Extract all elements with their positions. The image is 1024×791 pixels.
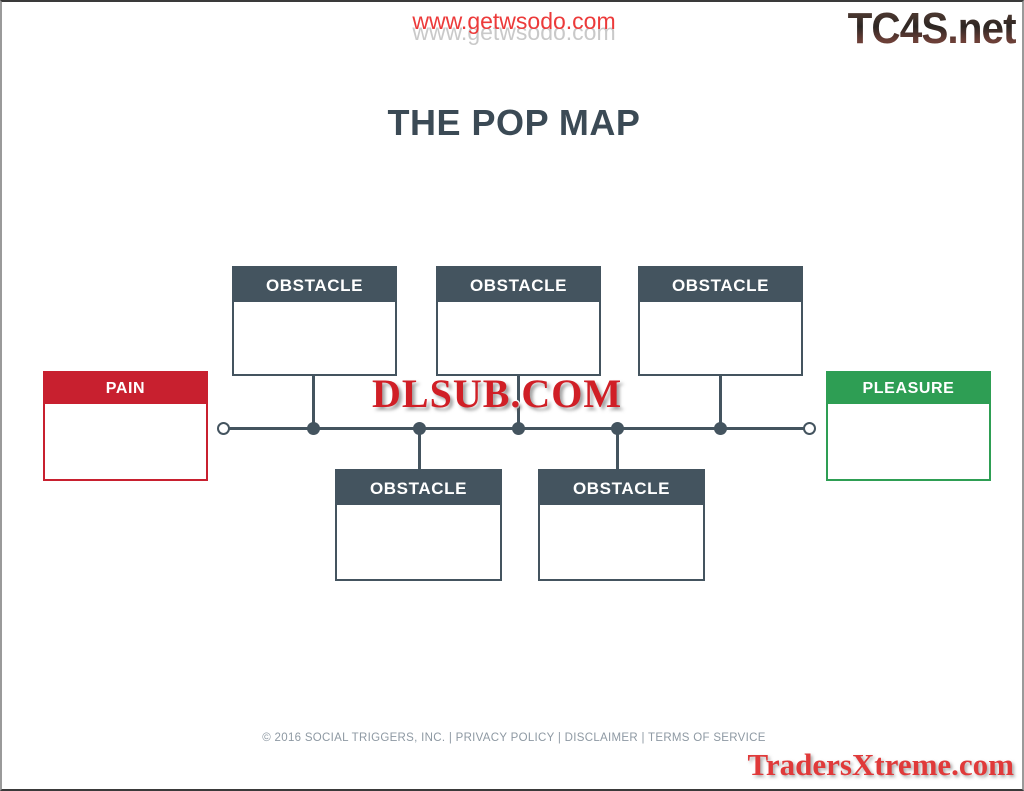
watermark-tc4s: TC4S.net <box>848 4 1016 54</box>
watermark-getwsodo-ghost: www.getwsodo.com <box>2 19 1024 46</box>
timeline-endpoint-right <box>803 422 816 435</box>
watermark-tradersxtreme: TradersXtreme.com <box>747 747 1014 783</box>
timeline-node-5 <box>714 422 727 435</box>
watermark-getwsodo: www.getwsodo.com www.getwsodo.com <box>2 8 1024 35</box>
slide-canvas: THE POP MAP PAIN PLEASURE OBSTACLE OBSTA… <box>0 0 1024 791</box>
timeline-node-3 <box>512 422 525 435</box>
timeline-node-2 <box>413 422 426 435</box>
obstacle-box-top-1-header: OBSTACLE <box>234 268 395 302</box>
timeline-node-1 <box>307 422 320 435</box>
obstacle-box-top-2[interactable]: OBSTACLE <box>436 266 601 376</box>
obstacle-box-top-2-body[interactable] <box>438 302 599 374</box>
obstacle-box-top-3-header: OBSTACLE <box>640 268 801 302</box>
obstacle-box-bottom-1-header: OBSTACLE <box>337 471 500 505</box>
watermark-dlsub: DLSUB.COM <box>372 370 622 417</box>
timeline-endpoint-left <box>217 422 230 435</box>
obstacle-box-bottom-2-body[interactable] <box>540 505 703 579</box>
timeline-node-4 <box>611 422 624 435</box>
obstacle-box-top-2-header: OBSTACLE <box>438 268 599 302</box>
obstacle-box-bottom-1-body[interactable] <box>337 505 500 579</box>
obstacle-box-bottom-2[interactable]: OBSTACLE <box>538 469 705 581</box>
pleasure-box[interactable]: PLEASURE <box>826 371 991 481</box>
connector-top-3 <box>719 374 722 429</box>
pleasure-box-header: PLEASURE <box>828 373 989 404</box>
obstacle-box-top-1[interactable]: OBSTACLE <box>232 266 397 376</box>
connector-top-2 <box>517 375 520 429</box>
pain-box-header: PAIN <box>45 373 206 404</box>
pain-box[interactable]: PAIN <box>43 371 208 481</box>
pain-box-body[interactable] <box>45 404 206 479</box>
obstacle-box-bottom-1[interactable]: OBSTACLE <box>335 469 502 581</box>
connector-top-1 <box>312 375 315 429</box>
footer-links[interactable]: © 2016 SOCIAL TRIGGERS, INC. | PRIVACY P… <box>2 732 1024 744</box>
obstacle-box-bottom-2-header: OBSTACLE <box>540 471 703 505</box>
pleasure-box-body[interactable] <box>828 404 989 479</box>
obstacle-box-top-3-body[interactable] <box>640 302 801 374</box>
watermark-getwsodo-front: www.getwsodo.com <box>412 8 615 34</box>
obstacle-box-top-1-body[interactable] <box>234 302 395 374</box>
page-title: THE POP MAP <box>2 102 1024 144</box>
obstacle-box-top-3[interactable]: OBSTACLE <box>638 266 803 376</box>
